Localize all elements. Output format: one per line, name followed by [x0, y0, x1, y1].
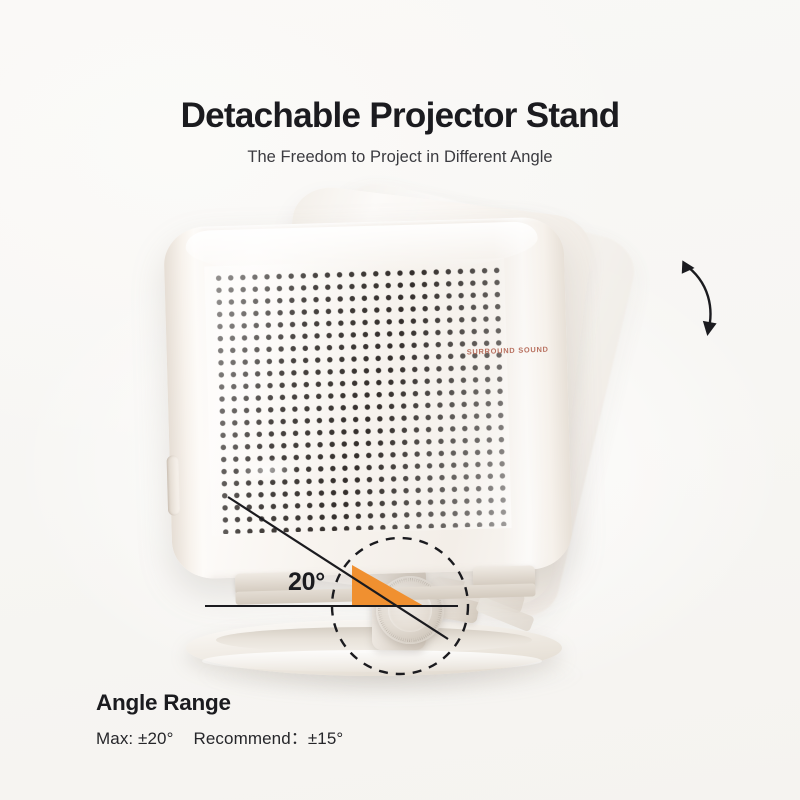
product-scene: SURROUND SOUND SURROUND SOUND: [0, 0, 800, 800]
angle-callout-overlay: [0, 0, 800, 800]
tilt-angle-line: [228, 497, 448, 639]
spec-max-value: Max: ±20°: [96, 729, 174, 749]
spec-recommend-value: Recommend：±15°: [194, 724, 344, 749]
product-feature-graphic: Detachable Projector Stand The Freedom t…: [0, 0, 800, 800]
spec-title: Angle Range: [96, 690, 343, 716]
spec-values-row: Max: ±20° Recommend：±15°: [96, 724, 343, 749]
angle-range-spec: Angle Range Max: ±20° Recommend：±15°: [96, 690, 343, 749]
double-headed-curved-arrow-icon: [668, 248, 738, 343]
angle-value-label: 20°: [288, 568, 325, 597]
